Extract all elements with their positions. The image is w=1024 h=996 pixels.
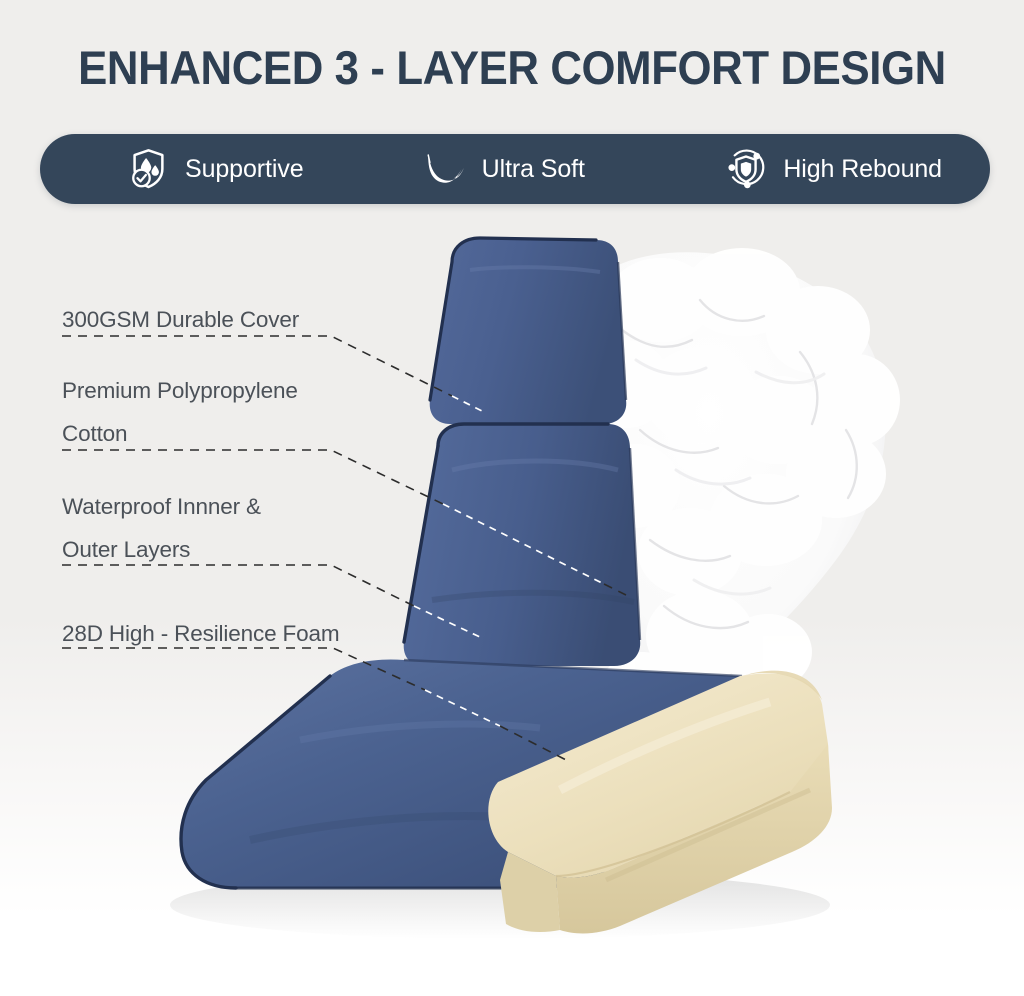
feature-item-supportive: Supportive	[40, 134, 392, 204]
page-title: ENHANCED 3 - LAYER COMFORT DESIGN	[36, 43, 988, 94]
callout-label-durable-cover: 300GSM Durable Cover	[62, 298, 299, 341]
seat-base-cover	[181, 660, 742, 888]
leader-line-2-tip	[604, 584, 626, 595]
leader-line-1-over-fabric	[452, 396, 486, 413]
feature-label-ultra-soft: Ultra Soft	[482, 155, 585, 184]
leader-line-4-over-fabric	[425, 690, 500, 726]
shield-droplet-check-icon	[125, 146, 171, 192]
leader-line-4-tip	[500, 726, 570, 762]
feature-bar: Supportive Ultra Soft	[40, 134, 990, 204]
feature-item-high-rebound: High Rebound	[688, 134, 990, 204]
callout-label-resilience-foam: 28D High - Resilience Foam	[62, 612, 339, 655]
feature-label-supportive: Supportive	[185, 155, 304, 184]
shield-orbit-icon	[723, 146, 769, 192]
leader-line-3-over-fabric	[414, 606, 482, 638]
feature-item-ultra-soft: Ultra Soft	[392, 134, 689, 204]
feature-label-high-rebound: High Rebound	[783, 155, 942, 184]
leader-line-2-over-fabric	[443, 504, 604, 584]
leader-line-3	[62, 565, 414, 606]
callout-label-waterproof-layers: Waterproof Innner & Outer Layers	[62, 485, 261, 571]
backrest-upper-cushion	[430, 238, 627, 424]
fiberfill-layer	[582, 248, 900, 720]
feather-icon	[422, 146, 468, 192]
seat-foam-layer	[488, 674, 832, 934]
callout-label-polypropylene-cotton: Premium Polypropylene Cotton	[62, 369, 298, 455]
backrest-lower-cushion	[404, 424, 641, 666]
infographic-page: ENHANCED 3 - LAYER COMFORT DESIGN Suppor…	[0, 0, 1024, 996]
